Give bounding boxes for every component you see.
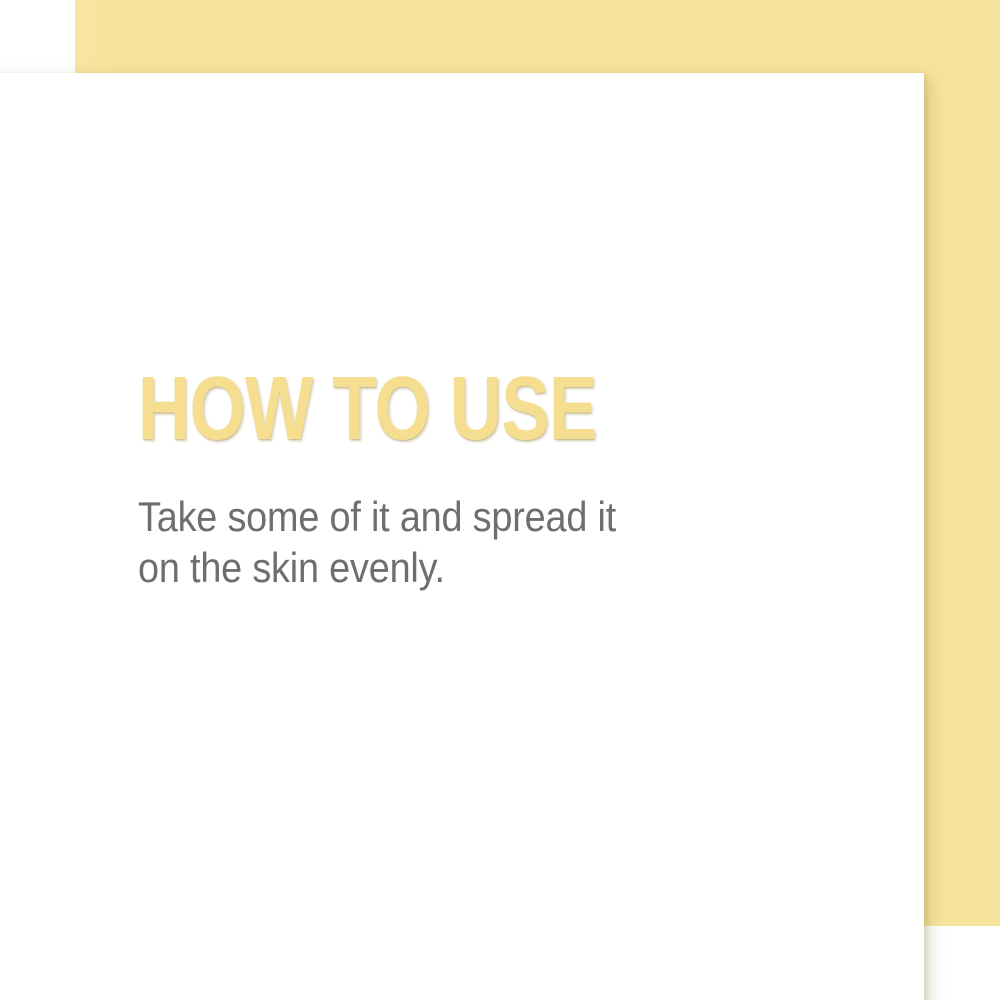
slide-canvas: HOW TO USE Take some of it and spread it… [0, 0, 1000, 1000]
content-card: HOW TO USE Take some of it and spread it… [0, 73, 924, 1000]
text-block: HOW TO USE Take some of it and spread it… [138, 368, 778, 593]
section-heading: HOW TO USE [138, 368, 650, 451]
body-line-1: Take some of it and spread it [138, 491, 714, 542]
body-line-2: on the skin evenly. [138, 542, 714, 593]
section-body-text: Take some of it and spread it on the ski… [138, 451, 714, 593]
